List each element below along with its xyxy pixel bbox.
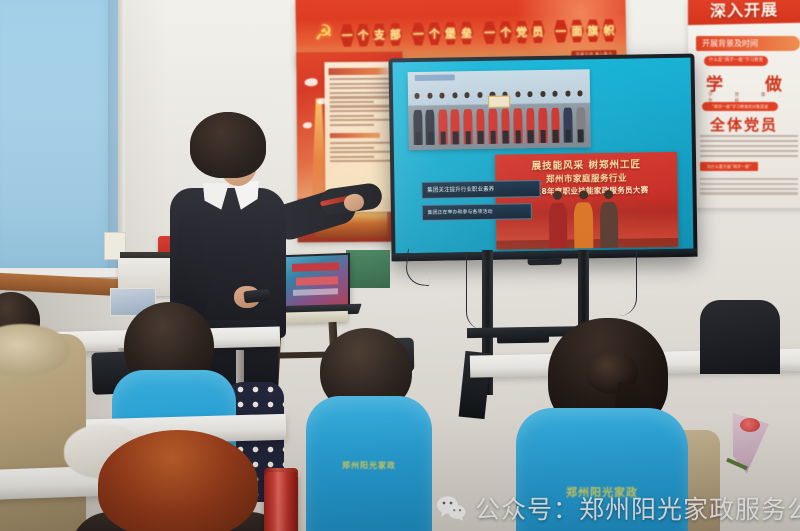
poster-text-line — [330, 124, 374, 126]
poster-text-line — [330, 96, 393, 99]
red-thermos — [264, 472, 298, 531]
poster-text-line — [330, 142, 393, 145]
slide-photo-award: 展技能风采 树郑州工匠 郑州市家庭服务行业 2018年度职业技能家政服务员大赛 — [495, 151, 678, 249]
tv-cable — [614, 250, 637, 316]
banner-char: 垒 — [459, 21, 474, 44]
poster-top-band-text: 深入开展 — [710, 0, 779, 22]
award-plaque — [488, 95, 510, 108]
attendee-far-right — [700, 300, 780, 374]
attendee-blue-vest: 郑州阳光家政 — [306, 396, 432, 531]
banner-gap — [404, 22, 409, 45]
poster-body-text — [700, 135, 798, 160]
poster-heading-all-members: 全体党员 — [710, 114, 778, 135]
tv-stand-shelf — [497, 330, 549, 344]
banner-char: 个 — [356, 23, 371, 46]
poster-title-bar — [328, 68, 393, 75]
laptop-screen[interactable] — [284, 253, 350, 310]
award-photo-people — [539, 189, 627, 250]
poster-tag-label: 为什么要开展“两学一做” — [700, 162, 758, 171]
poster-text-line — [330, 151, 393, 154]
poster-text-line — [330, 110, 393, 113]
party-poster-right: ☭ 深入开展 开展背景及时间 什么是“两学一做”学习教育 学 做 学党章党规 “… — [688, 0, 800, 208]
watermark: 公众号：郑州阳光家政服务公司 — [436, 490, 800, 526]
photo-watermark — [415, 75, 455, 81]
poster-text-line — [330, 82, 393, 85]
banner-char: 个 — [498, 21, 513, 44]
poster-text-line — [330, 156, 374, 158]
poster-pill-label-2: “两学一做”学习教育的对象是谁 — [702, 102, 778, 111]
green-notice-board — [346, 250, 390, 288]
banner-char: 堡 — [443, 22, 458, 45]
slide-bullet-2: 集团正在举办和参与各项活动 — [422, 203, 532, 220]
poster-text-line — [330, 146, 374, 148]
laptop-display — [286, 255, 348, 308]
tv-screen[interactable]: 展技能风采 树郑州工匠 郑州市家庭服务行业 2018年度职业技能家政服务员大赛 … — [392, 58, 693, 254]
banner-char: 面 — [570, 19, 585, 42]
banner-char: 一 — [411, 22, 426, 45]
poster-text-line — [330, 119, 393, 122]
banner-char: 个 — [427, 22, 442, 45]
window-roller-blind — [0, 0, 118, 274]
attendee-head-auburn — [98, 430, 258, 531]
banner-characters: 一 个 支 部 一 个 堡 垒 一 个 党 员 一 面 旗 帜 — [340, 15, 617, 50]
presenter-hair — [190, 112, 266, 178]
dove-icon — [305, 78, 318, 86]
banner-char: 部 — [388, 23, 403, 46]
banner-gap — [547, 20, 552, 43]
bouquet-bloom — [740, 418, 760, 432]
hammer-and-sickle-icon: ☭ — [312, 21, 335, 44]
banner-char: 一 — [340, 24, 355, 47]
banner-gap — [475, 21, 480, 44]
presentation-tv[interactable]: 展技能风采 树郑州工匠 郑州市家庭服务行业 2018年度职业技能家政服务员大赛 … — [388, 54, 697, 262]
wechat-icon — [436, 495, 466, 521]
poster-text-line — [330, 78, 393, 81]
poster-text-line — [330, 87, 393, 90]
poster-section-header: 开展背景及时间 — [696, 36, 800, 51]
poster-text-line — [330, 160, 393, 163]
banner-char: 支 — [372, 23, 387, 46]
dove-icon — [303, 122, 312, 128]
slide-photo-group — [408, 69, 591, 150]
vest-logo-text: 郑州阳光家政 — [306, 460, 432, 471]
poster-top-band: ☭ 深入开展 — [688, 0, 800, 25]
slide-bullet-1: 集团关注提升行业职业素养 — [421, 180, 540, 198]
backdrop-line-1: 展技能风采 树郑州工匠 — [501, 156, 672, 173]
banner-char: 旗 — [586, 19, 601, 42]
watermark-text: 公众号：郑州阳光家政服务公司 — [475, 490, 800, 526]
poster-text-line — [330, 114, 374, 116]
poster-body-text-2 — [700, 178, 798, 197]
banner-char: 一 — [482, 21, 497, 44]
tv-brand-logo — [528, 259, 562, 266]
banner-char: 一 — [554, 19, 569, 42]
banner-char: 员 — [531, 20, 546, 43]
poster-pill-label: 什么是“两学一做”学习教育 — [704, 56, 768, 66]
banner-char: 帜 — [602, 19, 617, 42]
tv-bezel: 展技能风采 树郑州工匠 郑州市家庭服务行业 2018年度职业技能家政服务员大赛 … — [388, 54, 697, 262]
banner-char: 党 — [514, 20, 529, 43]
photograph-scene: ☭ 一 个 支 部 一 个 堡 垒 一 个 党 员 一 面 旗 帜 党建引领 凝… — [0, 0, 800, 531]
poster-text-line — [330, 91, 393, 94]
poster-section-heading — [330, 133, 380, 138]
poster-text-line — [330, 105, 393, 108]
poster-text-line — [330, 101, 374, 103]
